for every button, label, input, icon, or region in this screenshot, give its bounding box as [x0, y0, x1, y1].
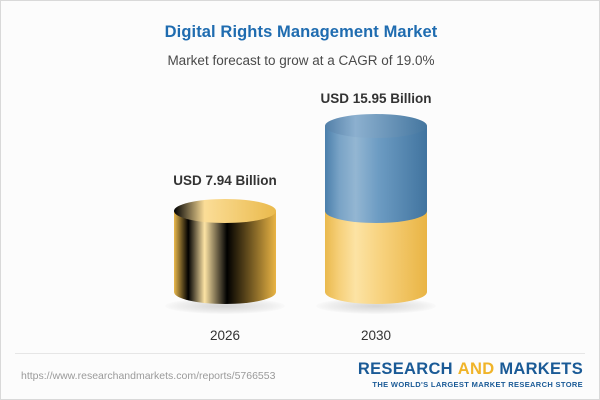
- plot-area: USD 7.94 Billion: [1, 1, 600, 353]
- logo-wordmark: RESEARCH AND MARKETS: [358, 361, 583, 378]
- bar-value-label-2030: USD 15.95 Billion: [320, 91, 431, 106]
- logo-word-research: RESEARCH: [358, 360, 453, 378]
- bar-category-label-2026: 2026: [210, 328, 240, 343]
- source-url[interactable]: https://www.researchandmarkets.com/repor…: [21, 370, 275, 382]
- bar-group-2030: USD 15.95 Billion: [325, 1, 427, 353]
- logo-word-and: AND: [458, 360, 495, 378]
- bar-category-label-2030: 2030: [361, 328, 391, 343]
- bar-value-label-2026: USD 7.94 Billion: [173, 173, 277, 188]
- chart-card: Digital Rights Management Market Market …: [0, 0, 600, 400]
- footer-divider: [15, 353, 585, 354]
- logo-tagline: THE WORLD'S LARGEST MARKET RESEARCH STOR…: [358, 380, 583, 389]
- cylinder-2026: [174, 199, 276, 304]
- bar-group-2026: USD 7.94 Billion: [174, 1, 276, 353]
- logo-word-markets: MARKETS: [499, 360, 583, 378]
- brand-logo[interactable]: RESEARCH AND MARKETS THE WORLD'S LARGEST…: [358, 361, 583, 389]
- cylinder-2030: [325, 114, 427, 304]
